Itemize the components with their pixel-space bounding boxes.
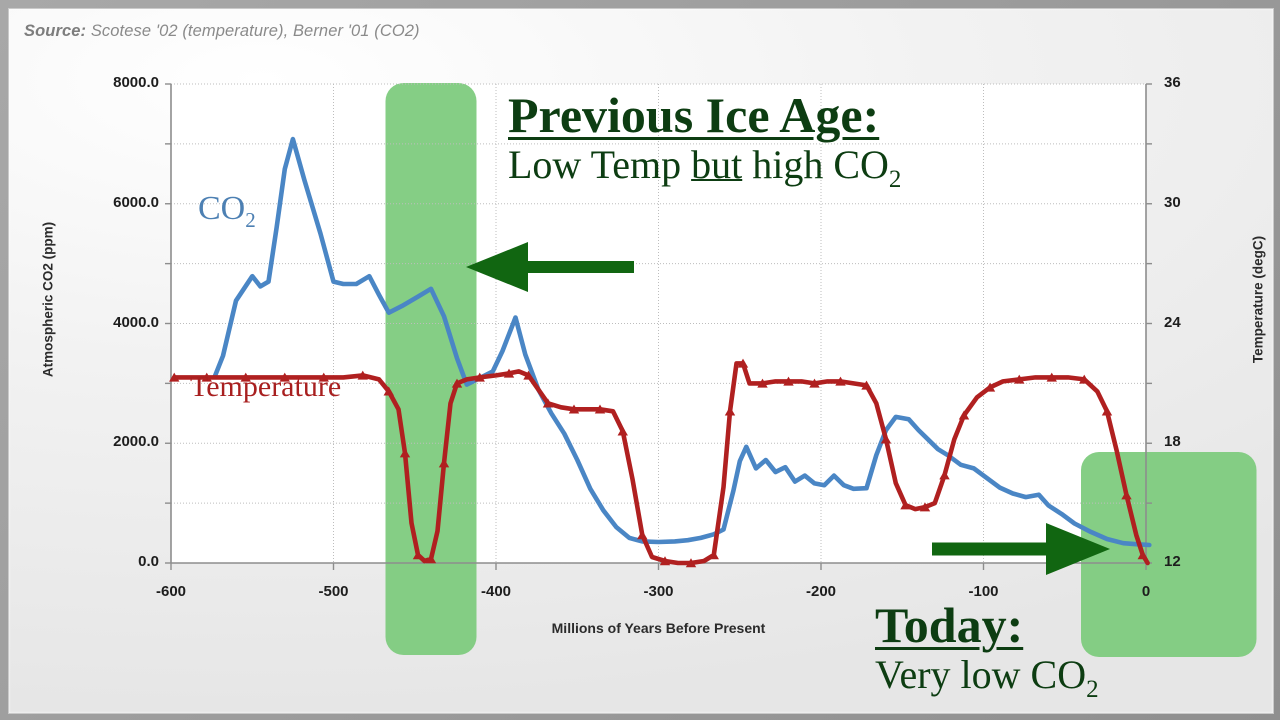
annotation-previous-ice-age: Previous Ice Age: Low Temp but high CO2 (508, 90, 901, 193)
annotation-ice-age-line1: Previous Ice Age: (508, 90, 901, 141)
chart-screenshot: Source: Scotese '02 (temperature), Berne… (0, 0, 1280, 720)
x-axis-tick-label: -200 (776, 583, 866, 600)
y-axis-right-tick-label: 12 (1164, 553, 1224, 570)
x-axis-tick-label: -400 (451, 583, 541, 600)
series-label-co2: CO2 (198, 190, 256, 233)
series-marker (637, 530, 647, 539)
y-axis-right-tick-label: 36 (1164, 74, 1224, 91)
series-marker (725, 407, 735, 416)
y-axis-right-tick-label: 24 (1164, 314, 1224, 331)
y-axis-left-tick-label: 0.0 (29, 553, 159, 570)
series-line-co2 (215, 139, 1149, 545)
series-marker (939, 470, 949, 479)
y-axis-left-tick-label: 8000.0 (29, 74, 159, 91)
y-axis-right-tick-label: 18 (1164, 433, 1224, 450)
annotation-arrow (466, 242, 634, 292)
y-axis-left-tick-label: 4000.0 (29, 314, 159, 331)
x-axis-tick-label: -600 (126, 583, 216, 600)
x-axis-tick-label: -500 (289, 583, 379, 600)
annotation-today-line1: Today: (875, 600, 1099, 651)
x-axis-tick-label: -300 (614, 583, 704, 600)
y-axis-right-tick-label: 30 (1164, 194, 1224, 211)
x-axis-tick-label: 0 (1101, 583, 1191, 600)
y-axis-left-tick-label: 2000.0 (29, 433, 159, 450)
y-axis-left-tick-label: 6000.0 (29, 194, 159, 211)
annotation-today-line2: Very low CO2 (875, 655, 1099, 703)
series-label-temperature: Temperature (190, 370, 341, 404)
annotation-today: Today: Very low CO2 (875, 600, 1099, 703)
annotation-ice-age-line2: Low Temp but high CO2 (508, 145, 901, 193)
